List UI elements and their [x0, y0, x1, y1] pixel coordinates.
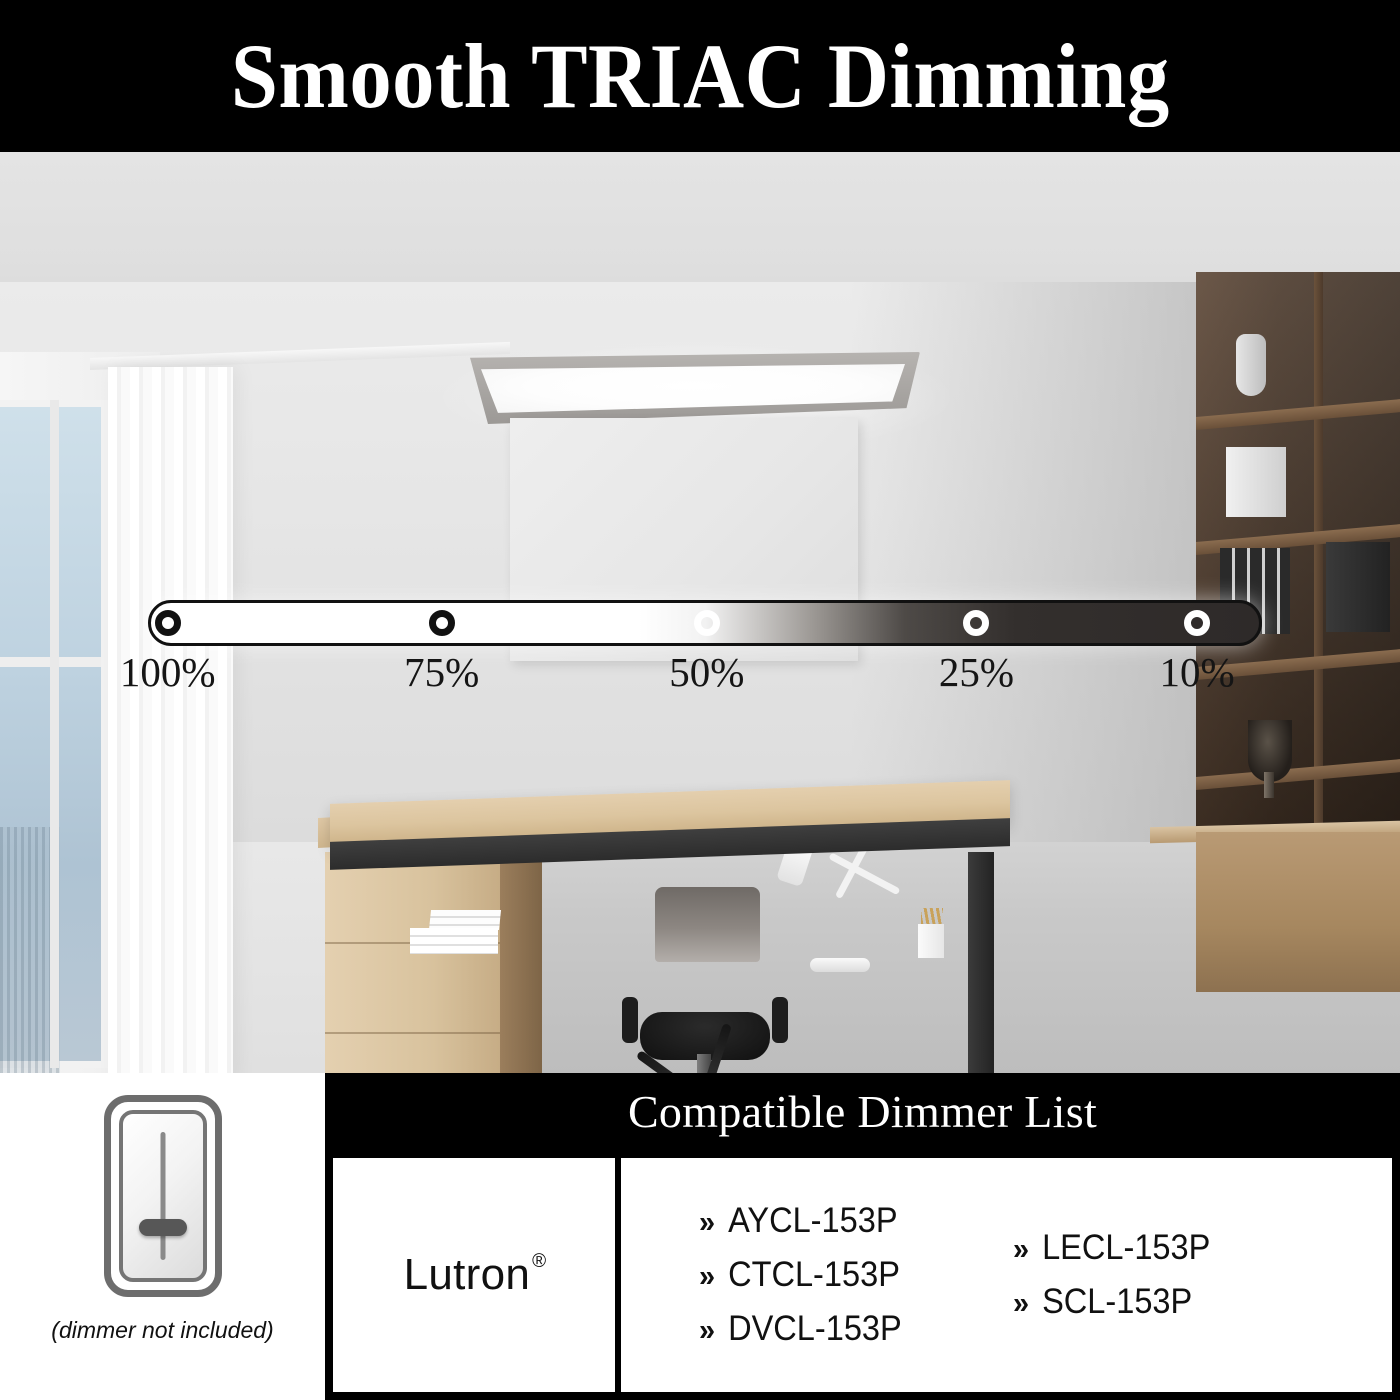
model-list-cell: »AYCL-153P»CTCL-153P»DVCL-153P »LECL-153…	[621, 1158, 1392, 1392]
model-column: »LECL-153P»SCL-153P	[1013, 1228, 1225, 1322]
product-feature-image: Smooth TRIAC Dimming	[0, 0, 1400, 1400]
page-title: Smooth TRIAC Dimming	[231, 23, 1170, 129]
dimmer-faceplate	[119, 1110, 207, 1282]
double-chevron-icon: »	[699, 1260, 715, 1291]
double-chevron-icon: »	[1013, 1233, 1029, 1264]
dimmer-model-label: AYCL-153P	[728, 1201, 897, 1241]
dimmer-model-item: »SCL-153P	[1013, 1282, 1210, 1322]
dimming-marker-25[interactable]	[963, 610, 989, 636]
brand-name: Lutron®	[404, 1250, 545, 1300]
bottom-section: (dimmer not included) Compatible Dimmer …	[0, 1073, 1400, 1400]
dimmer-model-item: »LECL-153P	[1013, 1228, 1210, 1268]
brand-cell: Lutron®	[333, 1158, 615, 1392]
dimmer-slider-thumb	[139, 1219, 187, 1236]
double-chevron-icon: »	[1013, 1287, 1029, 1318]
dimmer-model-label: DVCL-153P	[728, 1309, 902, 1349]
wall-dimmer-switch-icon	[104, 1095, 222, 1297]
dimmer-model-item: »AYCL-153P	[699, 1201, 902, 1241]
dimmer-slider-track	[160, 1132, 165, 1260]
double-chevron-icon: »	[699, 1314, 715, 1345]
title-banner: Smooth TRIAC Dimming	[0, 0, 1400, 152]
dimmer-model-item: »DVCL-153P	[699, 1309, 902, 1349]
dimming-marker-50[interactable]	[694, 610, 720, 636]
dimming-label-25: 25%	[939, 648, 1014, 696]
dimming-scale-overlay: 100%75%50%25%10%	[0, 152, 1400, 1073]
double-chevron-icon: »	[699, 1206, 715, 1237]
dimming-marker-75[interactable]	[429, 610, 455, 636]
registered-trademark-icon: ®	[532, 1251, 546, 1272]
dimmer-model-label: LECL-153P	[1042, 1228, 1210, 1268]
dimming-label-50: 50%	[669, 648, 744, 696]
dimmer-switch-column: (dimmer not included)	[0, 1073, 325, 1400]
dimming-label-10: 10%	[1159, 648, 1234, 696]
brand-label: Lutron	[404, 1250, 531, 1299]
panel-title: Compatible Dimmer List	[325, 1073, 1400, 1150]
dimmer-disclaimer: (dimmer not included)	[51, 1317, 273, 1344]
dimming-label-75: 75%	[404, 648, 479, 696]
dimmer-model-item: »CTCL-153P	[699, 1255, 902, 1295]
dimmer-model-label: CTCL-153P	[728, 1255, 900, 1295]
dimming-label-100: 100%	[120, 648, 216, 696]
dimmer-model-label: SCL-153P	[1042, 1282, 1192, 1322]
dimming-marker-100[interactable]	[155, 610, 181, 636]
model-column: »AYCL-153P»CTCL-153P»DVCL-153P	[699, 1201, 917, 1349]
compatible-dimmer-panel: Compatible Dimmer List Lutron® »AYCL-153…	[325, 1073, 1400, 1400]
room-scene-photo: 100%75%50%25%10%	[0, 152, 1400, 1073]
dimming-marker-10[interactable]	[1184, 610, 1210, 636]
